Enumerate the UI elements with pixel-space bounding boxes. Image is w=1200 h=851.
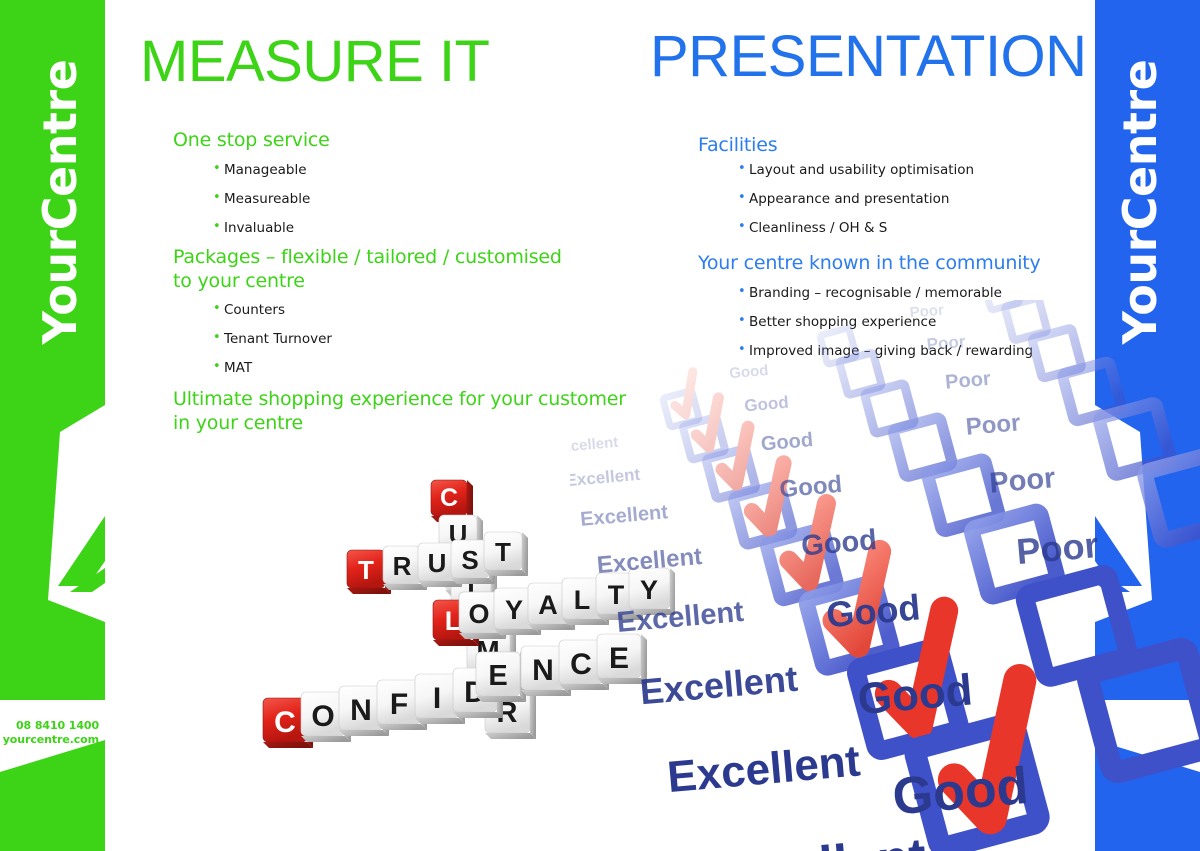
svg-text:F: F: [390, 688, 408, 721]
section-heading-packages: Packages – flexible / tailored / customi…: [173, 245, 573, 293]
svg-text:Good: Good: [744, 393, 790, 416]
svg-text:Good: Good: [800, 524, 878, 562]
svg-text:Poor: Poor: [944, 368, 992, 394]
svg-text:E: E: [488, 660, 507, 692]
svg-text:Poor: Poor: [926, 332, 967, 354]
brand-wordmark-left: YourCentre: [33, 52, 87, 352]
list-item: Branding – recognisable / memorable: [738, 286, 1198, 300]
survey-checkboxes-image: Excellent Excellent Excellent: [570, 300, 1200, 851]
svg-text:Excellent: Excellent: [570, 465, 641, 490]
address-line-4: Adelaide: [0, 675, 99, 689]
address-line-3: 15 Leigh Street: [0, 661, 99, 675]
svg-text:O: O: [311, 700, 334, 733]
list-item: Cleanliness / OH & S: [738, 221, 1198, 235]
svg-text:Good: Good: [890, 757, 1030, 827]
contact-address: Level 2 Aston House 15 Leigh Street Adel…: [0, 634, 105, 702]
svg-text:Excellent: Excellent: [696, 828, 929, 851]
address-line-1: Level 2: [0, 634, 99, 648]
svg-text:Poor: Poor: [1015, 524, 1100, 572]
section-heading-community: Your centre known in the community: [698, 251, 1158, 275]
section-heading-ultimate-shopping: Ultimate shopping experience for your cu…: [173, 387, 633, 435]
svg-text:N: N: [532, 654, 554, 687]
svg-text:Poor: Poor: [909, 302, 945, 322]
left-headline: MEASURE IT: [140, 33, 490, 91]
left-brand-sidebar: YourCentre Level 2 Aston House 15 Leigh …: [0, 0, 105, 851]
svg-text:U: U: [428, 548, 447, 578]
svg-text:Good: Good: [760, 429, 814, 455]
address-line-5: SA 5000: [0, 688, 99, 702]
svg-text:Y: Y: [505, 595, 523, 625]
address-line-2: Aston House: [0, 648, 99, 662]
svg-text:N: N: [350, 694, 372, 727]
svg-text:T: T: [495, 537, 511, 567]
survey-svg: Excellent Excellent Excellent: [570, 300, 1200, 851]
section-heading-one-stop-service: One stop service: [173, 128, 708, 152]
contact-website[interactable]: yourcentre.com: [0, 733, 99, 747]
svg-text:C: C: [274, 706, 296, 739]
svg-text:C: C: [440, 484, 458, 512]
svg-text:Good: Good: [856, 665, 975, 724]
svg-text:Excellent: Excellent: [596, 543, 703, 579]
svg-text:Good: Good: [729, 362, 769, 382]
section-heading-facilities: Facilities: [698, 133, 1158, 157]
left-content-column: MEASURE IT One stop service Manageable M…: [105, 0, 640, 851]
svg-text:Poor: Poor: [965, 409, 1022, 441]
list-item: Layout and usability optimisation: [738, 163, 1198, 177]
right-headline: PRESENTATION: [650, 28, 1087, 86]
svg-text:R: R: [393, 551, 412, 581]
svg-text:Excellent: Excellent: [615, 596, 745, 639]
svg-text:O: O: [468, 599, 489, 629]
svg-text:Excellent: Excellent: [638, 658, 799, 713]
svg-text:Good: Good: [825, 586, 922, 635]
contact-phone-web: 08 8410 1400 yourcentre.com: [0, 719, 105, 746]
svg-text:I: I: [433, 682, 441, 715]
svg-text:Poor: Poor: [988, 462, 1057, 500]
svg-text:Good: Good: [778, 471, 843, 503]
svg-text:Excellent: Excellent: [570, 434, 619, 457]
list-item: Appearance and presentation: [738, 192, 1198, 206]
svg-text:Excellent: Excellent: [665, 736, 862, 802]
svg-text:T: T: [358, 555, 374, 585]
svg-text:S: S: [461, 545, 478, 575]
svg-text:A: A: [538, 590, 558, 620]
contact-phone[interactable]: 08 8410 1400: [0, 719, 99, 733]
brochure-page: YourCentre Level 2 Aston House 15 Leigh …: [0, 0, 1200, 851]
bullet-list-facilities: Layout and usability optimisation Appear…: [738, 163, 1198, 250]
svg-text:Excellent: Excellent: [579, 501, 669, 531]
